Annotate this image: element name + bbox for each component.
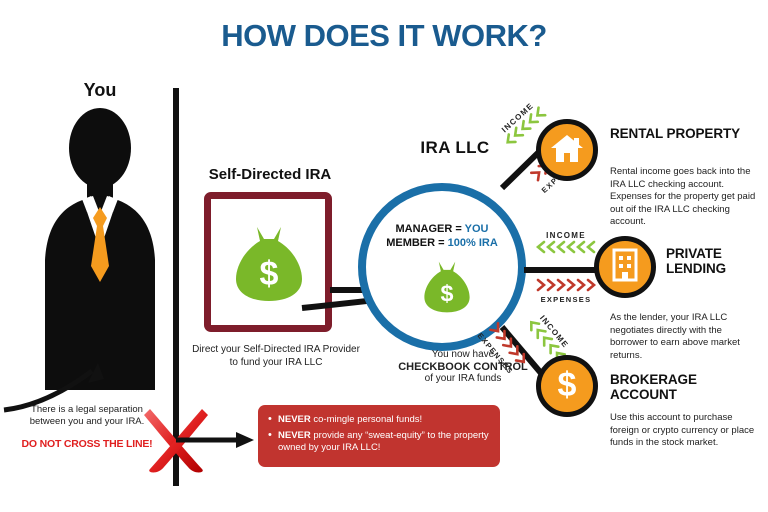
- person-silhouette-icon: [35, 100, 165, 390]
- svg-text:$: $: [441, 280, 454, 306]
- svg-text:$: $: [260, 255, 279, 293]
- house-icon: [550, 133, 584, 168]
- never-rules-box: NEVER co-mingle personal funds! NEVER pr…: [258, 405, 500, 467]
- crossing-arrow: [176, 430, 258, 455]
- expenses-flow-lending: EXPENSES: [533, 278, 599, 304]
- rental-property-node[interactable]: [536, 119, 598, 181]
- private-lending-body: As the lender, your IRA LLC negotiates d…: [610, 312, 762, 362]
- ira-llc-roles: MANAGER = YOU MEMBER = 100% IRA: [368, 222, 516, 250]
- never-rules-list: NEVER co-mingle personal funds! NEVER pr…: [258, 405, 500, 455]
- infographic-canvas: HOW DOES IT WORK? You There is a leg: [0, 0, 768, 512]
- svg-text:$: $: [558, 366, 577, 404]
- self-directed-ira-label: Self-Directed IRA: [190, 166, 350, 183]
- money-bag-icon: $: [423, 260, 471, 319]
- brokerage-account-body: Use this account to purchase foreign or …: [610, 412, 762, 450]
- never-rule-text: co-mingle personal funds!: [311, 414, 422, 425]
- office-building-icon: [611, 248, 639, 287]
- brokerage-account-node[interactable]: $: [536, 355, 598, 417]
- expenses-label: EXPENSES: [533, 295, 599, 304]
- rental-property-body: Rental income goes back into the IRA LLC…: [610, 166, 762, 229]
- private-lending-node[interactable]: [594, 236, 656, 298]
- page-title: HOW DOES IT WORK?: [0, 18, 768, 54]
- you-label: You: [45, 80, 155, 101]
- income-flow-lending: INCOME: [533, 231, 599, 258]
- list-item: NEVER co-mingle personal funds!: [278, 414, 490, 427]
- member-key: MEMBER =: [386, 237, 444, 249]
- money-bag-icon: $: [234, 225, 304, 308]
- direct-provider-caption: Direct your Self-Directed IRA Provider t…: [190, 344, 362, 369]
- income-label: INCOME: [533, 231, 599, 240]
- never-keyword: NEVER: [278, 414, 311, 425]
- private-lending-title: PRIVATE LENDING: [666, 246, 766, 276]
- manager-value: YOU: [465, 223, 489, 235]
- dollar-sign-icon: $: [554, 366, 580, 407]
- rental-property-title: RENTAL PROPERTY: [610, 126, 762, 141]
- list-item: NEVER provide any “sweat-equity” to the …: [278, 430, 490, 455]
- manager-key: MANAGER =: [395, 223, 461, 235]
- never-keyword: NEVER: [278, 430, 311, 441]
- brokerage-account-title: BROKERAGE ACCOUNT: [610, 372, 762, 402]
- member-value: 100% IRA: [448, 237, 498, 249]
